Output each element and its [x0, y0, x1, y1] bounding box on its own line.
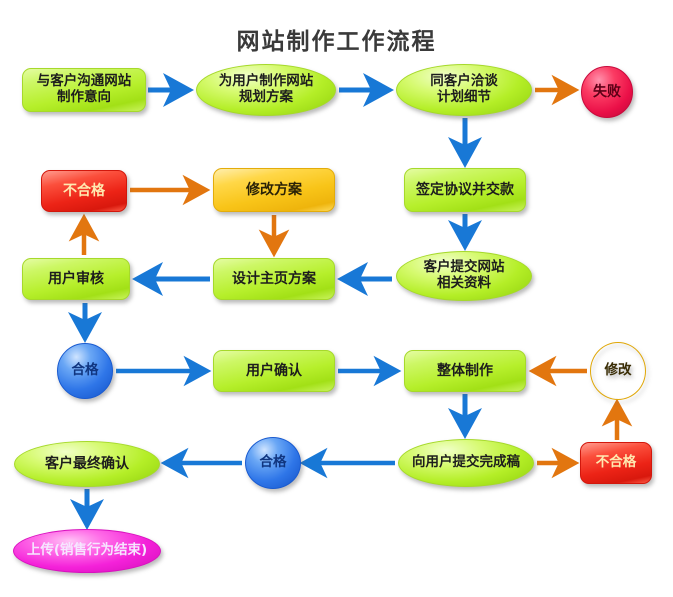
node-rejected-final[interactable]: 不合格 [580, 442, 652, 484]
node-label: 用户确认 [214, 363, 334, 380]
node-failure[interactable]: 失败 [581, 66, 633, 118]
node-website-plan[interactable]: 为用户制作网站 规划方案 [196, 64, 336, 116]
node-approved-final[interactable]: 合格 [245, 437, 301, 489]
node-label: 客户提交网站 相关资料 [397, 260, 531, 292]
node-label: 合格 [58, 363, 112, 379]
node-label: 合格 [246, 455, 300, 471]
node-label: 为用户制作网站 规划方案 [197, 74, 335, 106]
node-user-review[interactable]: 用户审核 [22, 258, 130, 300]
node-label: 上传(销售行为结束) [14, 543, 160, 559]
node-rejected-review[interactable]: 不合格 [41, 170, 127, 212]
node-client-final-confirm[interactable]: 客户最终确认 [14, 441, 160, 487]
node-client-submit-materials[interactable]: 客户提交网站 相关资料 [396, 251, 532, 301]
node-label: 签定协议并交款 [405, 182, 525, 199]
node-label: 修改方案 [214, 182, 334, 199]
node-label: 设计主页方案 [214, 271, 334, 288]
node-label: 不合格 [581, 455, 651, 471]
node-modify[interactable]: 修改 [590, 342, 646, 400]
node-design-homepage[interactable]: 设计主页方案 [213, 258, 335, 300]
node-upload-end[interactable]: 上传(销售行为结束) [13, 529, 161, 573]
node-negotiate-details[interactable]: 同客户洽谈 计划细节 [396, 64, 532, 116]
node-label: 向用户提交完成稿 [399, 455, 533, 471]
node-label: 客户最终确认 [15, 456, 159, 473]
node-revise-plan[interactable]: 修改方案 [213, 168, 335, 212]
node-label: 与客户沟通网站 制作意向 [23, 74, 145, 106]
node-label: 用户审核 [23, 271, 129, 288]
node-label: 不合格 [42, 183, 126, 200]
node-submit-final-draft[interactable]: 向用户提交完成稿 [398, 439, 534, 487]
node-label: 同客户洽谈 计划细节 [397, 74, 531, 106]
node-layer: 与客户沟通网站 制作意向 为用户制作网站 规划方案 同客户洽谈 计划细节 失败 … [0, 0, 673, 597]
flowchart-canvas: 网站制作工作流程 [0, 0, 673, 597]
node-client-communication[interactable]: 与客户沟通网站 制作意向 [22, 68, 146, 112]
node-full-production[interactable]: 整体制作 [404, 350, 526, 392]
node-sign-contract-payment[interactable]: 签定协议并交款 [404, 168, 526, 212]
node-label: 修改 [591, 363, 645, 379]
node-label: 失败 [582, 84, 632, 101]
node-label: 整体制作 [405, 363, 525, 380]
node-user-confirm[interactable]: 用户确认 [213, 350, 335, 392]
node-approved-review[interactable]: 合格 [57, 343, 113, 399]
